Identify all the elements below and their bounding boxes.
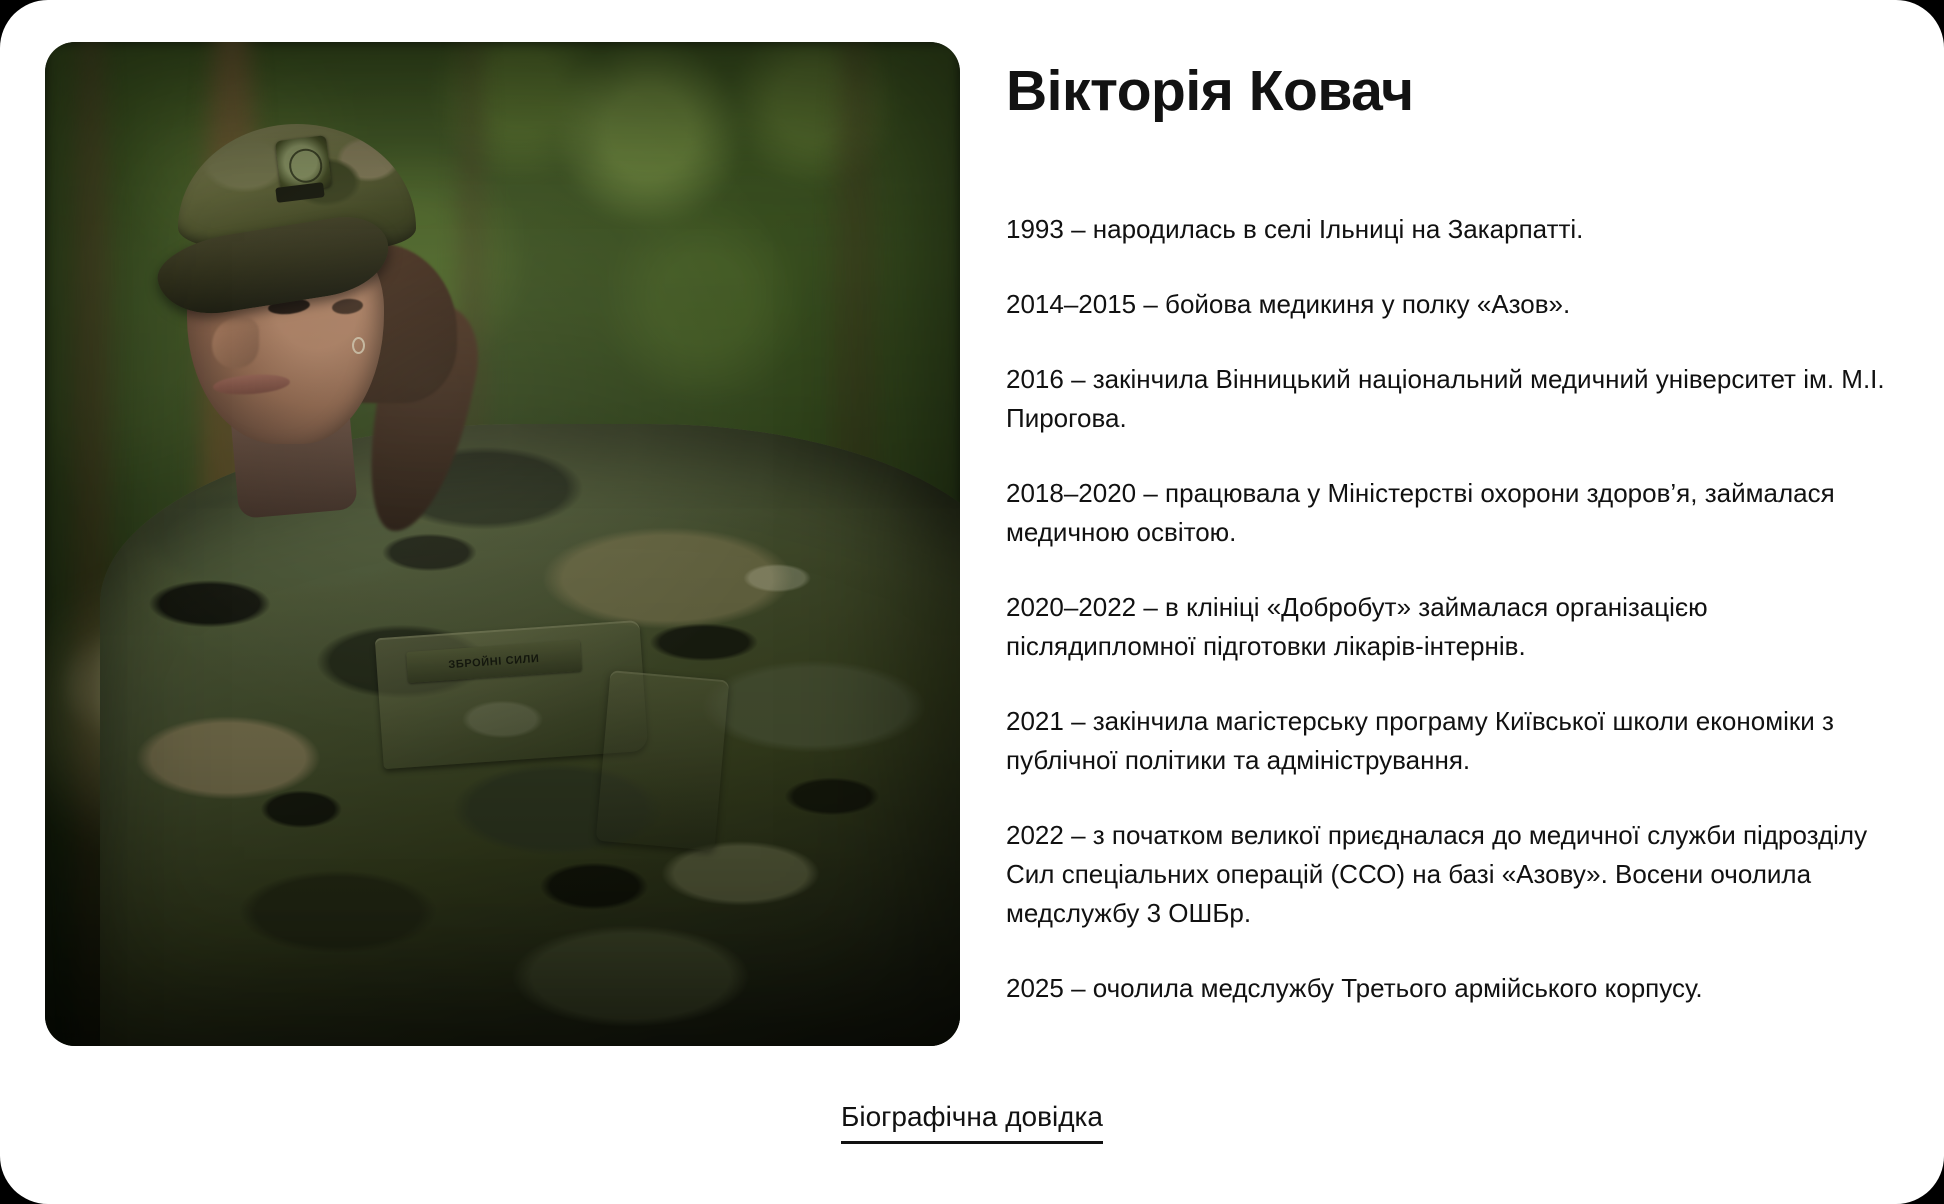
biography-entry: 2022 – з початком великої приєдналася до… <box>1006 816 1886 933</box>
biography-entry: 2025 – очолила медслужбу Третього армійс… <box>1006 969 1886 1008</box>
portrait-photo: ЗБРОЙНІ СИЛИ <box>45 42 960 1046</box>
page-title: Вікторія Ковач <box>1006 60 1414 123</box>
biography-entry: 2021 – закінчила магістерську програму К… <box>1006 702 1886 780</box>
biography-entry: 2016 – закінчила Вінницький національний… <box>1006 360 1886 438</box>
footer: Біографічна довідка <box>0 1100 1944 1144</box>
photo-canvas: ЗБРОЙНІ СИЛИ <box>45 42 960 1046</box>
photo-vignette <box>45 42 960 1046</box>
biography-entry: 1993 – народилась в селі Ільниці на Зака… <box>1006 210 1886 249</box>
biography-list: 1993 – народилась в селі Ільниці на Зака… <box>1006 210 1886 1008</box>
bio-card: ЗБРОЙНІ СИЛИ <box>0 0 1944 1204</box>
bio-content: Вікторія Ковач 1993 – народилась в селі … <box>1006 0 1886 1204</box>
biography-entry: 2020–2022 – в клініці «Добробут» займала… <box>1006 588 1886 666</box>
biography-entry: 2018–2020 – працювала у Міністерстві охо… <box>1006 474 1886 552</box>
biography-entry: 2014–2015 – бойова медикиня у полку «Азо… <box>1006 285 1886 324</box>
biography-reference-link[interactable]: Біографічна довідка <box>841 1100 1103 1144</box>
